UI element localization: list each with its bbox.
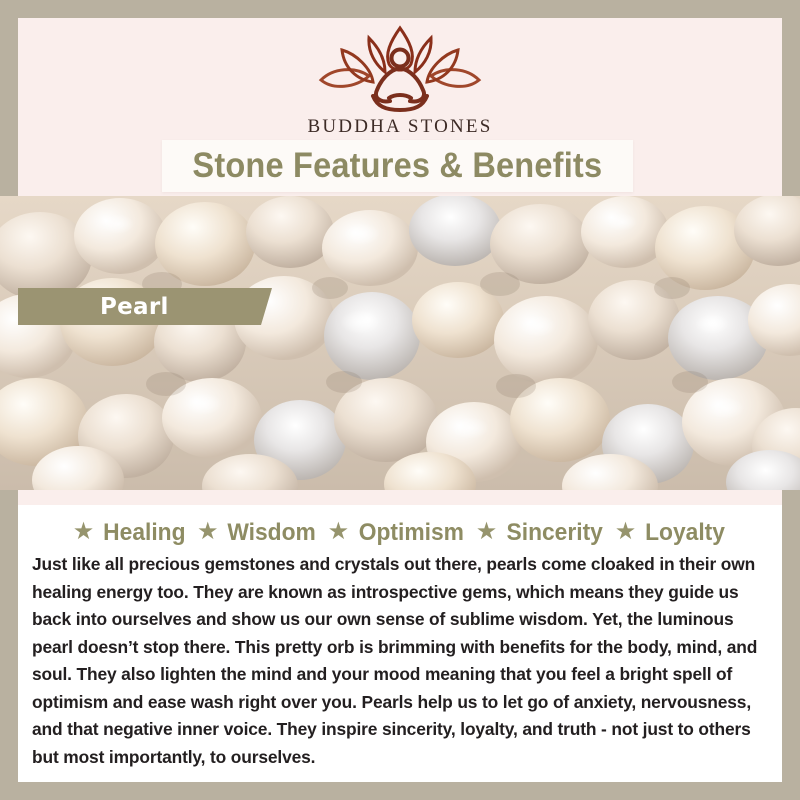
star-icon: ★	[197, 520, 219, 544]
benefit-label: Optimism	[359, 519, 464, 547]
benefit-item-healing: ★ Healing	[73, 519, 188, 547]
brand-name: BUDDHA STONES	[307, 116, 492, 138]
content-panel: ★ Healing ★ Wisdom ★ Optimism ★ Sincerit…	[18, 505, 782, 782]
benefit-item-optimism: ★ Optimism	[328, 519, 467, 547]
stone-name-label: Pearl	[100, 294, 169, 320]
infographic-page: BUDDHA STONES Stone Features & Benefits	[0, 0, 800, 800]
title-banner: Stone Features & Benefits	[162, 140, 633, 192]
benefit-label: Loyalty	[645, 519, 725, 547]
star-icon: ★	[615, 520, 637, 544]
benefit-item-loyalty: ★ Loyalty	[615, 519, 728, 547]
description-paragraph: Just like all precious gemstones and cry…	[32, 551, 768, 771]
benefit-item-sincerity: ★ Sincerity	[476, 519, 606, 547]
benefit-label: Wisdom	[228, 519, 316, 547]
stone-name-band: Pearl	[18, 288, 261, 325]
page-title: Stone Features & Benefits	[193, 146, 603, 186]
star-icon: ★	[73, 520, 95, 544]
benefit-keywords: ★ Healing ★ Wisdom ★ Optimism ★ Sincerit…	[18, 505, 782, 547]
brand-logo: BUDDHA STONES	[18, 24, 782, 138]
lotus-meditation-icon	[311, 24, 489, 112]
pearl-stones-photo	[0, 196, 800, 490]
benefit-label: Healing	[103, 519, 185, 547]
star-icon: ★	[476, 520, 498, 544]
benefit-label: Sincerity	[507, 519, 603, 547]
star-icon: ★	[328, 520, 350, 544]
benefit-item-wisdom: ★ Wisdom	[197, 519, 319, 547]
content-canvas: BUDDHA STONES Stone Features & Benefits	[18, 18, 782, 782]
